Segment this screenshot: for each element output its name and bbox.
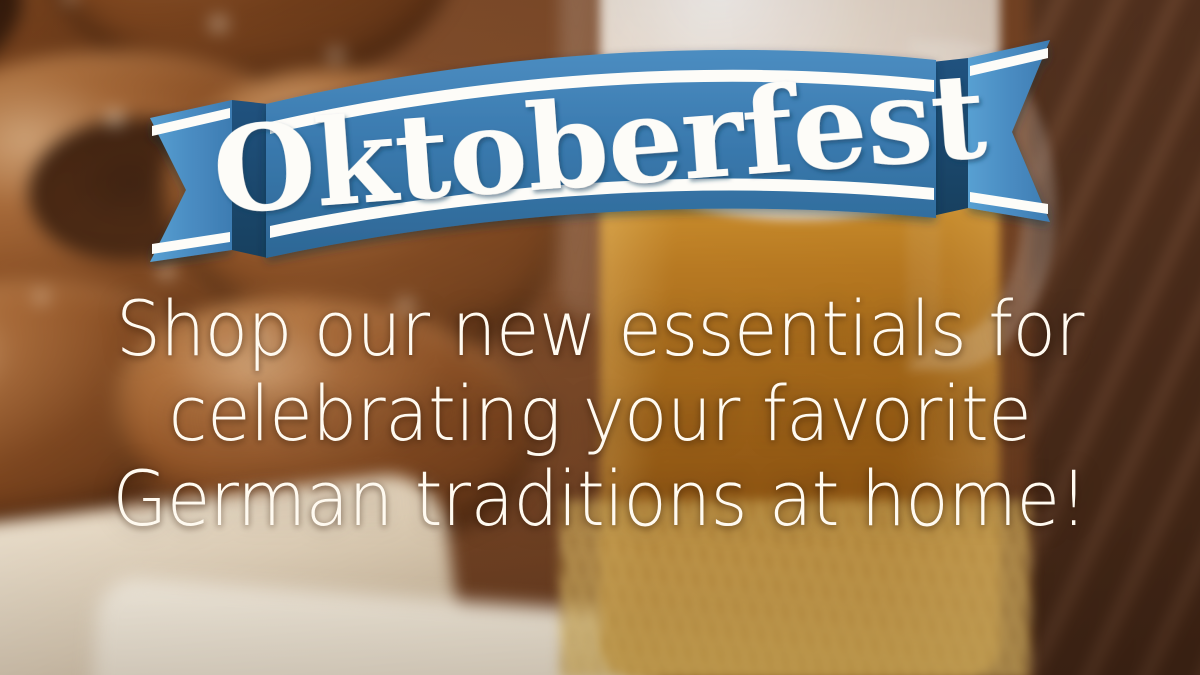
promo-headline: Shop our new essentials for celebrating … (42, 286, 1158, 541)
headline-line-1: Shop our new essentials for (42, 286, 1158, 371)
headline-line-3: German traditions at home! (42, 456, 1158, 541)
oktoberfest-ribbon: Oktoberfest (0, 0, 1200, 300)
headline-line-2: celebrating your favorite (42, 371, 1158, 456)
oktoberfest-promo-banner: Oktoberfest Shop our new essentials for … (0, 0, 1200, 675)
